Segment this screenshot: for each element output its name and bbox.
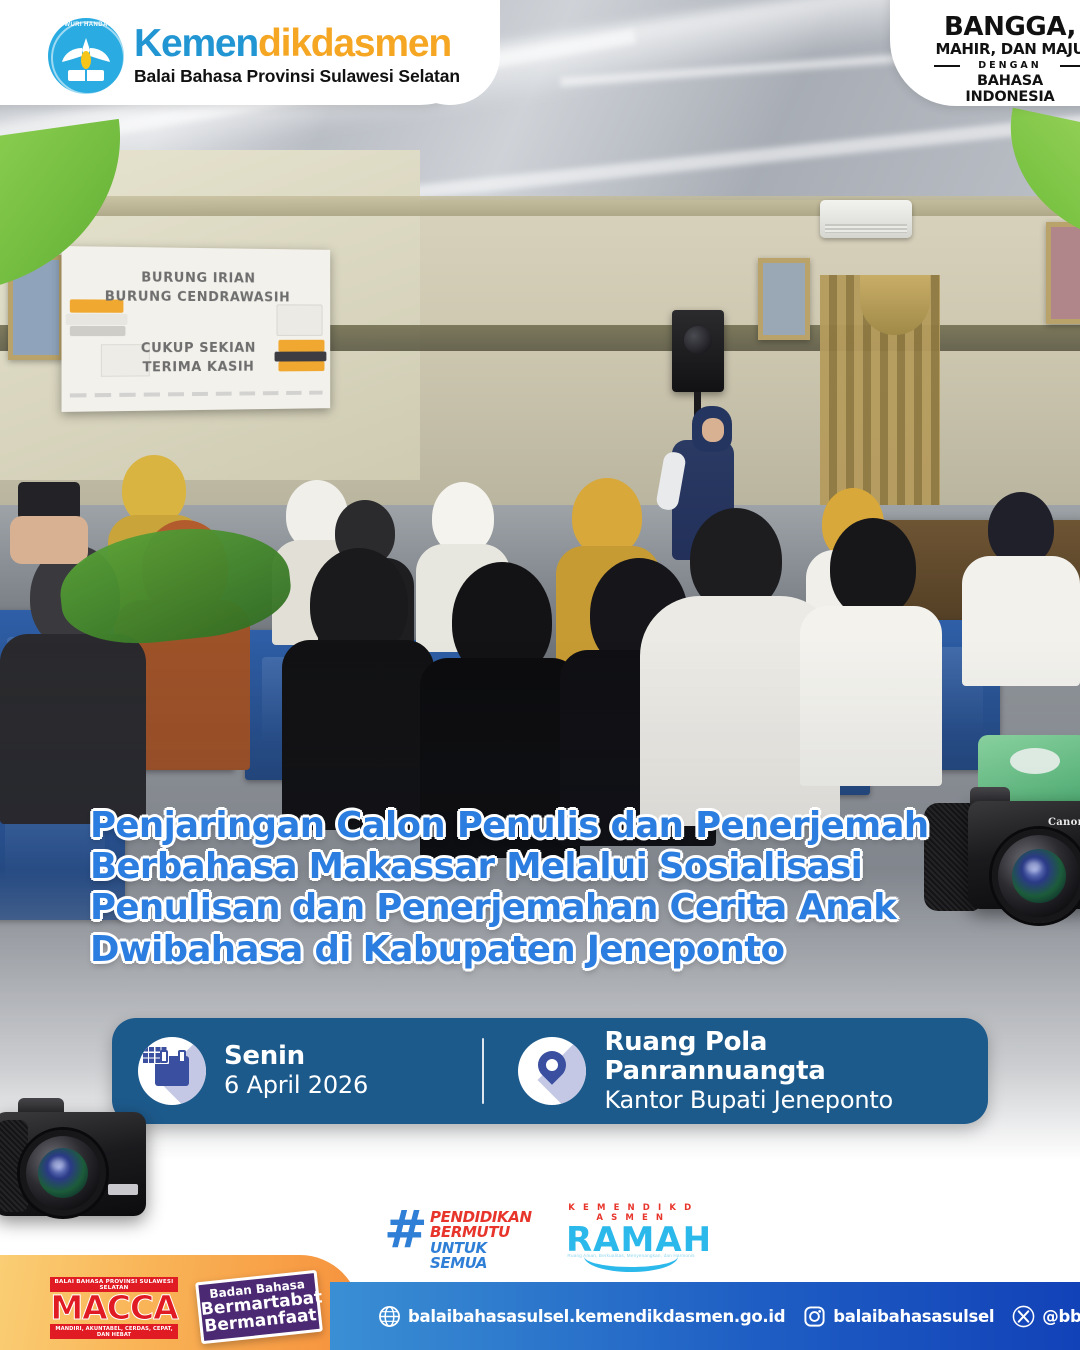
bangga-line-2: MAHIR, DAN MAJU [930,42,1080,58]
calendar-icon [138,1037,206,1105]
poster-canvas: BURUNG IRIAN BURUNG CENDRAWASIH CUKUP SE… [0,0,1080,1350]
title-line-1: Penjaringan Calon Penulis dan Penerjemah [90,805,970,846]
event-venue: Ruang Pola Panrannuangta [604,1028,988,1086]
brand-part-1: Kemen [134,22,258,65]
event-info-bar: Senin 6 April 2026 Ruang Pola Panrannuan… [112,1018,988,1124]
x-twitter-icon [1012,1305,1035,1328]
hash-icon: # [384,1209,430,1253]
badan-bahasa-badge-icon: Badan Bahasa Bermartabat Bermanfaat [195,1270,323,1344]
instagram-icon [803,1305,826,1328]
kemendikdasmen-logo-icon: TUT WURI HANDAYANI [48,18,124,94]
title-line-2: Berbahasa Makassar Melalui Sosialisasi [90,846,970,887]
macca-bottom-text: MANDIRI, AKUNTABEL, CERDAS, CEPAT, DAN H… [50,1324,178,1339]
ramah-logo-icon: K E M E N D I K D A S M E N RAMAH Ruang … [566,1203,696,1259]
brand-lockup: Kemendikdasmen Balai Bahasa Provinsi Sul… [134,24,460,87]
title-line-3: Penulisan dan Penerjemahan Cerita Anak [90,887,970,928]
macca-wordmark: MACCA [50,1292,178,1324]
venue-info: Ruang Pola Panrannuangta Kantor Bupati J… [484,1028,988,1115]
brand-subtitle: Balai Bahasa Provinsi Sulawesi Selatan [134,66,460,87]
event-venue-sub: Kantor Bupati Jeneponto [604,1086,988,1114]
title-line-4: Dwibahasa di Kabupaten Jeneponto [90,929,970,970]
social-x[interactable]: @bbsulsel [1012,1305,1080,1328]
photo-overlay [0,0,1080,1160]
footer-social-bar: balaibahasasulsel.kemendikdasmen.go.id b… [330,1282,1080,1350]
event-day: Senin [224,1042,368,1071]
ramah-tagline: Ruang Aman, Berkualitas, Menyenangkan, d… [566,1253,696,1258]
tutwuri-bird-icon [62,36,110,72]
instagram-label: balaibahasasulsel [833,1307,994,1326]
bangga-badge: BANGGA, MAHIR, DAN MAJU DENGAN BAHASA IN… [930,14,1080,105]
bangga-line-3: DENGAN [930,60,1080,71]
globe-icon [378,1305,401,1328]
macca-logo-icon: BALAI BAHASA PROVINSI SULAWESI SELATAN M… [50,1277,178,1339]
social-website[interactable]: balaibahasasulsel.kemendikdasmen.go.id [378,1305,785,1328]
event-date: 6 April 2026 [224,1071,368,1099]
bangga-line-4: BAHASA INDONESIA [930,73,1080,105]
event-photo: BURUNG IRIAN BURUNG CENDRAWASIH CUKUP SE… [0,0,1080,1160]
pbus-line-3: UNTUK SEMUA [430,1241,544,1272]
location-pin-icon [518,1037,586,1105]
bangga-line-1: BANGGA, [930,14,1080,40]
pendidikan-bermutu-logo-icon: # PENDIDIKAN BERMUTU UNTUK SEMUA [384,1205,544,1257]
date-info: Senin 6 April 2026 [112,1037,482,1105]
website-label: balaibahasasulsel.kemendikdasmen.go.id [408,1307,785,1326]
poster-title: Penjaringan Calon Penulis dan Penerjemah… [90,805,970,970]
social-instagram[interactable]: balaibahasasulsel [803,1305,994,1328]
brand-part-2: dikdasmen [258,22,451,65]
x-label: @bbsulsel [1042,1307,1080,1326]
